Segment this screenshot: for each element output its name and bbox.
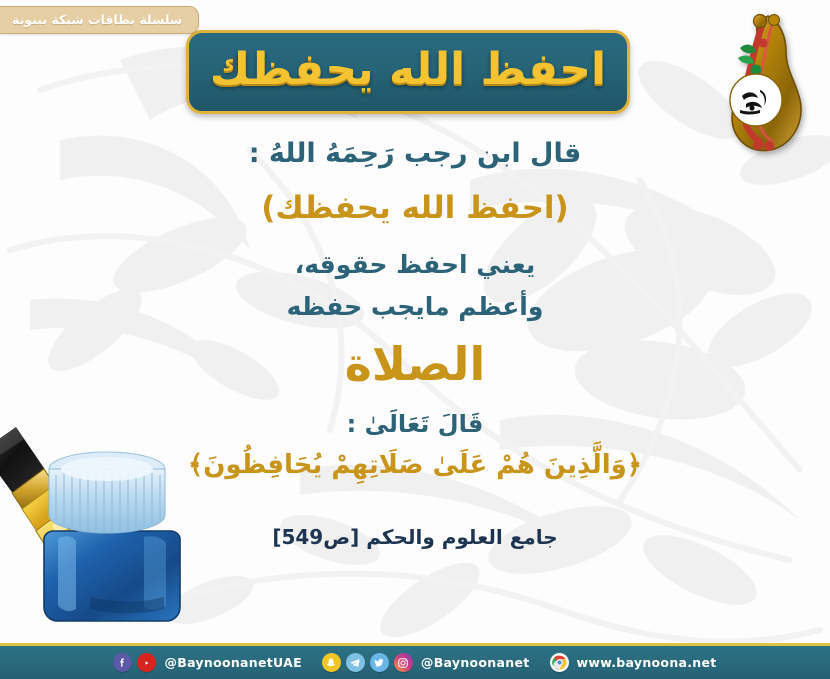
- footer-website[interactable]: www.baynoona.net: [577, 655, 717, 670]
- source-citation: جامع العلوم والحكم [ص549]: [40, 523, 790, 551]
- footer-handle-uae[interactable]: @BaynoonanetUAE: [164, 655, 301, 670]
- footer-bar: @BaynoonanetUAE: [0, 643, 830, 679]
- quran-verse: ﴿وَالَّذِينَ هُمْ عَلَىٰ صَلَاتِهِمْ يُح…: [40, 446, 790, 485]
- footer-group-uae: @BaynoonanetUAE: [103, 653, 311, 672]
- keyword-emphasis: الصلاة: [40, 337, 790, 392]
- footer-group-website: www.baynoona.net: [540, 653, 727, 672]
- series-badge: سلسلة بطاقات شبكة بينونة: [0, 6, 199, 34]
- footer-group-main: @Baynoonanet: [312, 653, 540, 672]
- instagram-icon[interactable]: [394, 653, 413, 672]
- baynoona-logo-emblem-icon: [716, 8, 812, 158]
- main-content: قال ابن رجب رَحِمَهُ اللهُ : (احفظ الله …: [0, 128, 830, 551]
- chrome-web-icon[interactable]: [550, 653, 569, 672]
- attribution-line: قال ابن رجب رَحِمَهُ اللهُ :: [40, 134, 790, 173]
- youtube-icon[interactable]: [137, 653, 156, 672]
- explanation-line-1: يعني احفظ حقوقه،: [40, 246, 790, 285]
- islamic-quote-card: سلسلة بطاقات شبكة بينونة احفظ الله يحفظك: [0, 0, 830, 679]
- twitter-icon[interactable]: [370, 653, 389, 672]
- snapchat-icon[interactable]: [322, 653, 341, 672]
- facebook-icon[interactable]: [113, 653, 132, 672]
- explanation-line-2: وأعظم مايجب حفظه: [40, 288, 790, 327]
- title-banner: احفظ الله يحفظك: [186, 30, 630, 114]
- main-quote: (احفظ الله يحفظك): [40, 185, 790, 232]
- telegram-icon[interactable]: [346, 653, 365, 672]
- footer-handle-main[interactable]: @Baynoonanet: [421, 655, 530, 670]
- page-title: احفظ الله يحفظك: [210, 48, 606, 96]
- ayah-intro-line: قَالَ تَعَالَىٰ :: [40, 408, 790, 442]
